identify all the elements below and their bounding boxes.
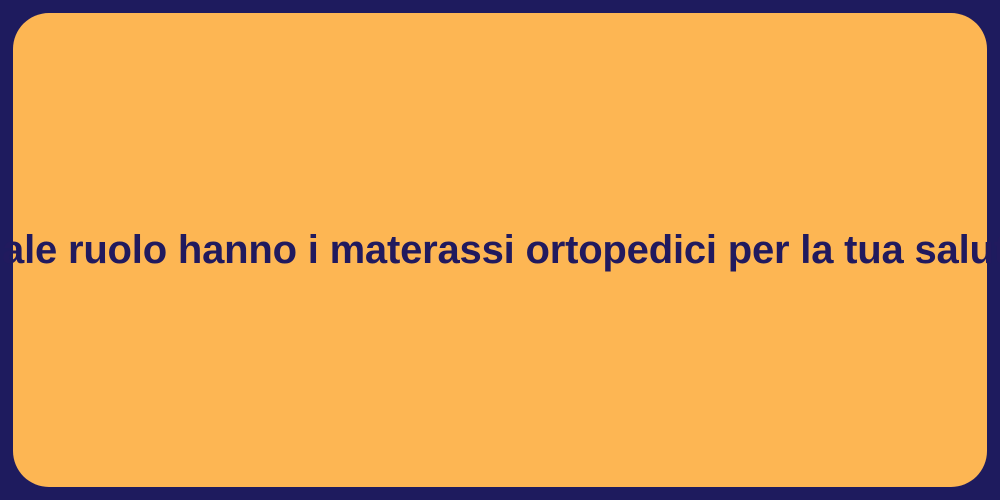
page-background: Quale ruolo hanno i materassi ortopedici… <box>0 0 1000 500</box>
headline-card: Quale ruolo hanno i materassi ortopedici… <box>13 13 987 487</box>
page-title: Quale ruolo hanno i materassi ortopedici… <box>0 225 1000 275</box>
